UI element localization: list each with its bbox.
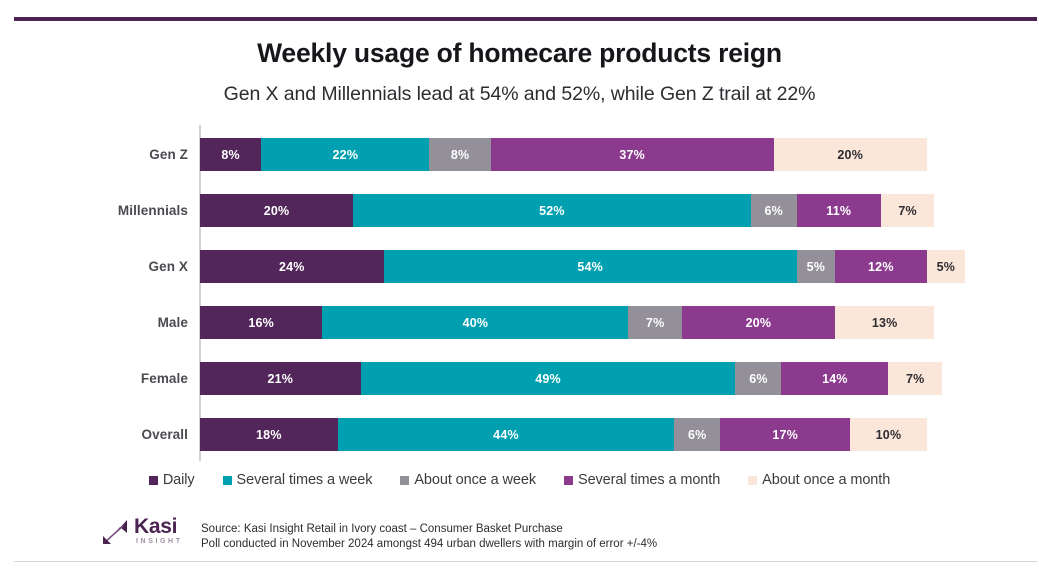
bottom-rule (14, 561, 1037, 562)
bar-segment: 22% (261, 138, 429, 171)
bar-segment: 16% (200, 306, 322, 339)
bar-segment: 11% (797, 194, 881, 227)
source-note: Source: Kasi Insight Retail in Ivory coa… (201, 522, 901, 552)
bar-segment: 21% (200, 362, 361, 395)
bar-segment: 6% (735, 362, 781, 395)
legend-label: Daily (163, 472, 195, 488)
bar-segment: 6% (674, 418, 720, 451)
stacked-bar: 18%44%6%17%10% (200, 418, 965, 451)
category-label: Male (0, 306, 188, 339)
legend-label: Several times a month (578, 472, 720, 488)
bar-row: Millennials20%52%6%11%7% (0, 194, 1039, 227)
bar-row: Gen Z8%22%8%37%20% (0, 138, 1039, 171)
bar-segment: 8% (200, 138, 261, 171)
stacked-bar: 8%22%8%37%20% (200, 138, 965, 171)
bar-segment: 40% (322, 306, 628, 339)
bar-segment: 7% (628, 306, 682, 339)
legend-label: About once a week (414, 472, 536, 488)
logo-subtitle: INSIGHT (136, 538, 183, 545)
bar-segment: 52% (353, 194, 751, 227)
bar-segment: 37% (491, 138, 774, 171)
chart-legend: DailySeveral times a weekAbout once a we… (0, 472, 1039, 488)
bar-segment: 44% (338, 418, 675, 451)
bar-segment: 7% (888, 362, 942, 395)
bar-segment: 5% (797, 250, 835, 283)
plot-area: Gen Z8%22%8%37%20%Millennials20%52%6%11%… (0, 125, 1039, 461)
legend-label: About once a month (762, 472, 890, 488)
legend-swatch-icon (748, 476, 757, 485)
top-accent-rule (14, 17, 1037, 21)
bar-segment: 10% (850, 418, 927, 451)
bar-segment: 20% (200, 194, 353, 227)
legend-swatch-icon (400, 476, 409, 485)
category-label: Female (0, 362, 188, 395)
page-subtitle: Gen X and Millennials lead at 54% and 52… (0, 83, 1039, 106)
y-axis-line (199, 125, 201, 461)
bar-segment: 49% (361, 362, 736, 395)
bar-segment: 7% (881, 194, 935, 227)
legend-item[interactable]: About once a week (400, 472, 536, 488)
stacked-bar: 16%40%7%20%13% (200, 306, 965, 339)
bar-segment: 5% (927, 250, 965, 283)
legend-item[interactable]: Daily (149, 472, 195, 488)
bar-segment: 6% (751, 194, 797, 227)
legend-item[interactable]: Several times a week (223, 472, 373, 488)
bar-segment: 13% (835, 306, 934, 339)
legend-swatch-icon (223, 476, 232, 485)
logo-wordmark: Kasi (134, 515, 177, 539)
legend-swatch-icon (564, 476, 573, 485)
category-label: Overall (0, 418, 188, 451)
bar-segment: 54% (384, 250, 797, 283)
bar-segment: 14% (781, 362, 888, 395)
legend-item[interactable]: About once a month (748, 472, 890, 488)
bar-segment: 18% (200, 418, 338, 451)
stacked-bar: 21%49%6%14%7% (200, 362, 965, 395)
bar-row: Male16%40%7%20%13% (0, 306, 1039, 339)
category-label: Gen Z (0, 138, 188, 171)
bar-row: Overall18%44%6%17%10% (0, 418, 1039, 451)
source-line-2: Poll conducted in November 2024 amongst … (201, 537, 901, 552)
stacked-bar: 20%52%6%11%7% (200, 194, 965, 227)
bar-segment: 20% (774, 138, 927, 171)
category-label: Gen X (0, 250, 188, 283)
chart-page: Weekly usage of homecare products reign … (0, 0, 1039, 571)
page-title: Weekly usage of homecare products reign (0, 38, 1039, 69)
source-line-1: Source: Kasi Insight Retail in Ivory coa… (201, 522, 901, 537)
legend-swatch-icon (149, 476, 158, 485)
bar-segment: 12% (835, 250, 927, 283)
kasi-logo: Kasi INSIGHT (100, 514, 192, 556)
legend-label: Several times a week (237, 472, 373, 488)
legend-item[interactable]: Several times a month (564, 472, 720, 488)
bar-segment: 20% (682, 306, 835, 339)
bar-segment: 17% (720, 418, 850, 451)
footer: Kasi INSIGHT Source: Kasi Insight Retail… (0, 511, 1039, 559)
bar-segment: 24% (200, 250, 384, 283)
bar-row: Female21%49%6%14%7% (0, 362, 1039, 395)
stacked-bar: 24%54%5%12%5% (200, 250, 965, 283)
category-label: Millennials (0, 194, 188, 227)
arrow-logo-icon (100, 516, 132, 548)
bar-segment: 8% (429, 138, 490, 171)
bar-row: Gen X24%54%5%12%5% (0, 250, 1039, 283)
